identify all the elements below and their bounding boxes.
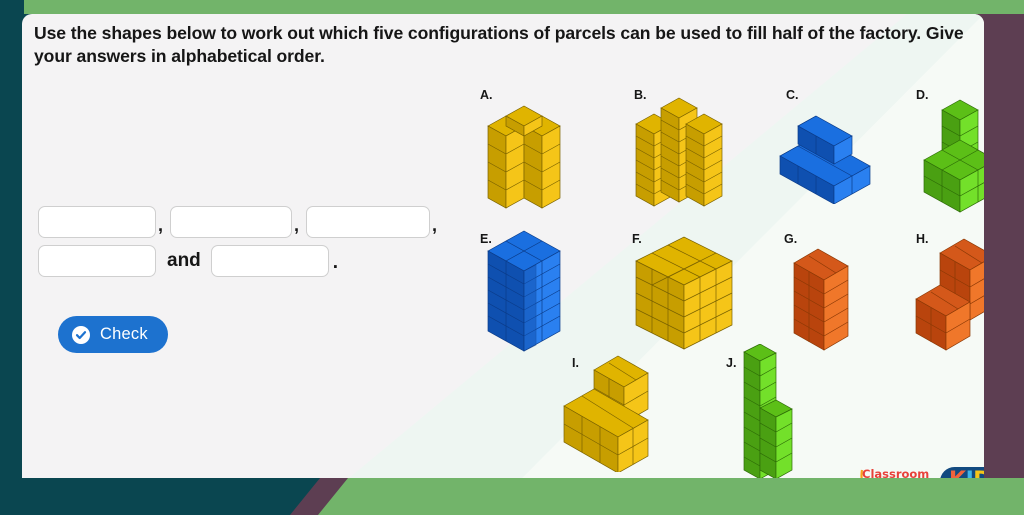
shape-i-figure: [550, 344, 670, 472]
shape-g-label: G.: [784, 232, 797, 246]
kids-letter-i: I: [966, 470, 974, 479]
shape-i: I.: [550, 344, 670, 472]
shape-h-figure: [902, 219, 984, 364]
shape-e-label: E.: [480, 232, 492, 246]
answer-row-1: , , ,: [38, 206, 468, 238]
shape-b: B.: [614, 74, 744, 219]
shape-h: H.: [902, 219, 984, 364]
shape-g-figure: [762, 219, 872, 359]
shape-g: G.: [762, 219, 872, 359]
shape-f-label: F.: [632, 232, 642, 246]
answer-terminator: .: [333, 252, 338, 277]
kids-logo: K I D S: [940, 467, 984, 479]
answer-input-3[interactable]: [306, 206, 430, 238]
answer-row-2: and .: [38, 245, 468, 277]
shape-d-label: D.: [916, 88, 929, 102]
answer-input-1[interactable]: [38, 206, 156, 238]
shape-c-label: C.: [786, 88, 799, 102]
shape-j: J.: [710, 344, 820, 478]
answer-input-2[interactable]: [170, 206, 292, 238]
shape-h-label: H.: [916, 232, 929, 246]
worksheet-screen: Use the shapes below to work out which f…: [0, 0, 1024, 515]
check-button[interactable]: Check: [58, 316, 168, 353]
shape-b-label: B.: [634, 88, 647, 102]
answer-area: , , , and .: [38, 206, 468, 284]
shape-i-label: I.: [572, 356, 579, 370]
kids-letter-d: D: [973, 470, 984, 479]
svg-text:Classroom: Classroom: [862, 467, 929, 478]
answer-input-5[interactable]: [211, 245, 329, 277]
classroom-secrets-logo: Classroom secrets: [858, 464, 934, 478]
check-button-label: Check: [100, 325, 148, 344]
shape-c-figure: [762, 74, 892, 204]
answer-separator-2: ,: [294, 215, 299, 238]
shape-j-label: J.: [726, 356, 736, 370]
shape-a-label: A.: [480, 88, 493, 102]
shape-f: F.: [618, 219, 758, 364]
shape-c: C.: [762, 74, 892, 204]
shape-d-figure: [902, 74, 984, 214]
shape-e: E.: [458, 219, 588, 359]
shape-e-figure: [458, 219, 588, 359]
answer-input-4[interactable]: [38, 245, 156, 277]
check-circle-icon: [72, 326, 90, 344]
shape-a-figure: [458, 74, 578, 214]
shape-a: A.: [458, 74, 578, 214]
question-text: Use the shapes below to work out which f…: [34, 22, 969, 68]
kids-letter-k: K: [949, 470, 966, 479]
answer-separator-and: and: [167, 250, 201, 272]
answer-separator-3: ,: [432, 215, 437, 238]
shape-d: D.: [902, 74, 984, 214]
worksheet-card: Use the shapes below to work out which f…: [22, 14, 984, 478]
brand-logo: Classroom secrets K I D S: [858, 464, 984, 478]
answer-separator-1: ,: [158, 215, 163, 238]
